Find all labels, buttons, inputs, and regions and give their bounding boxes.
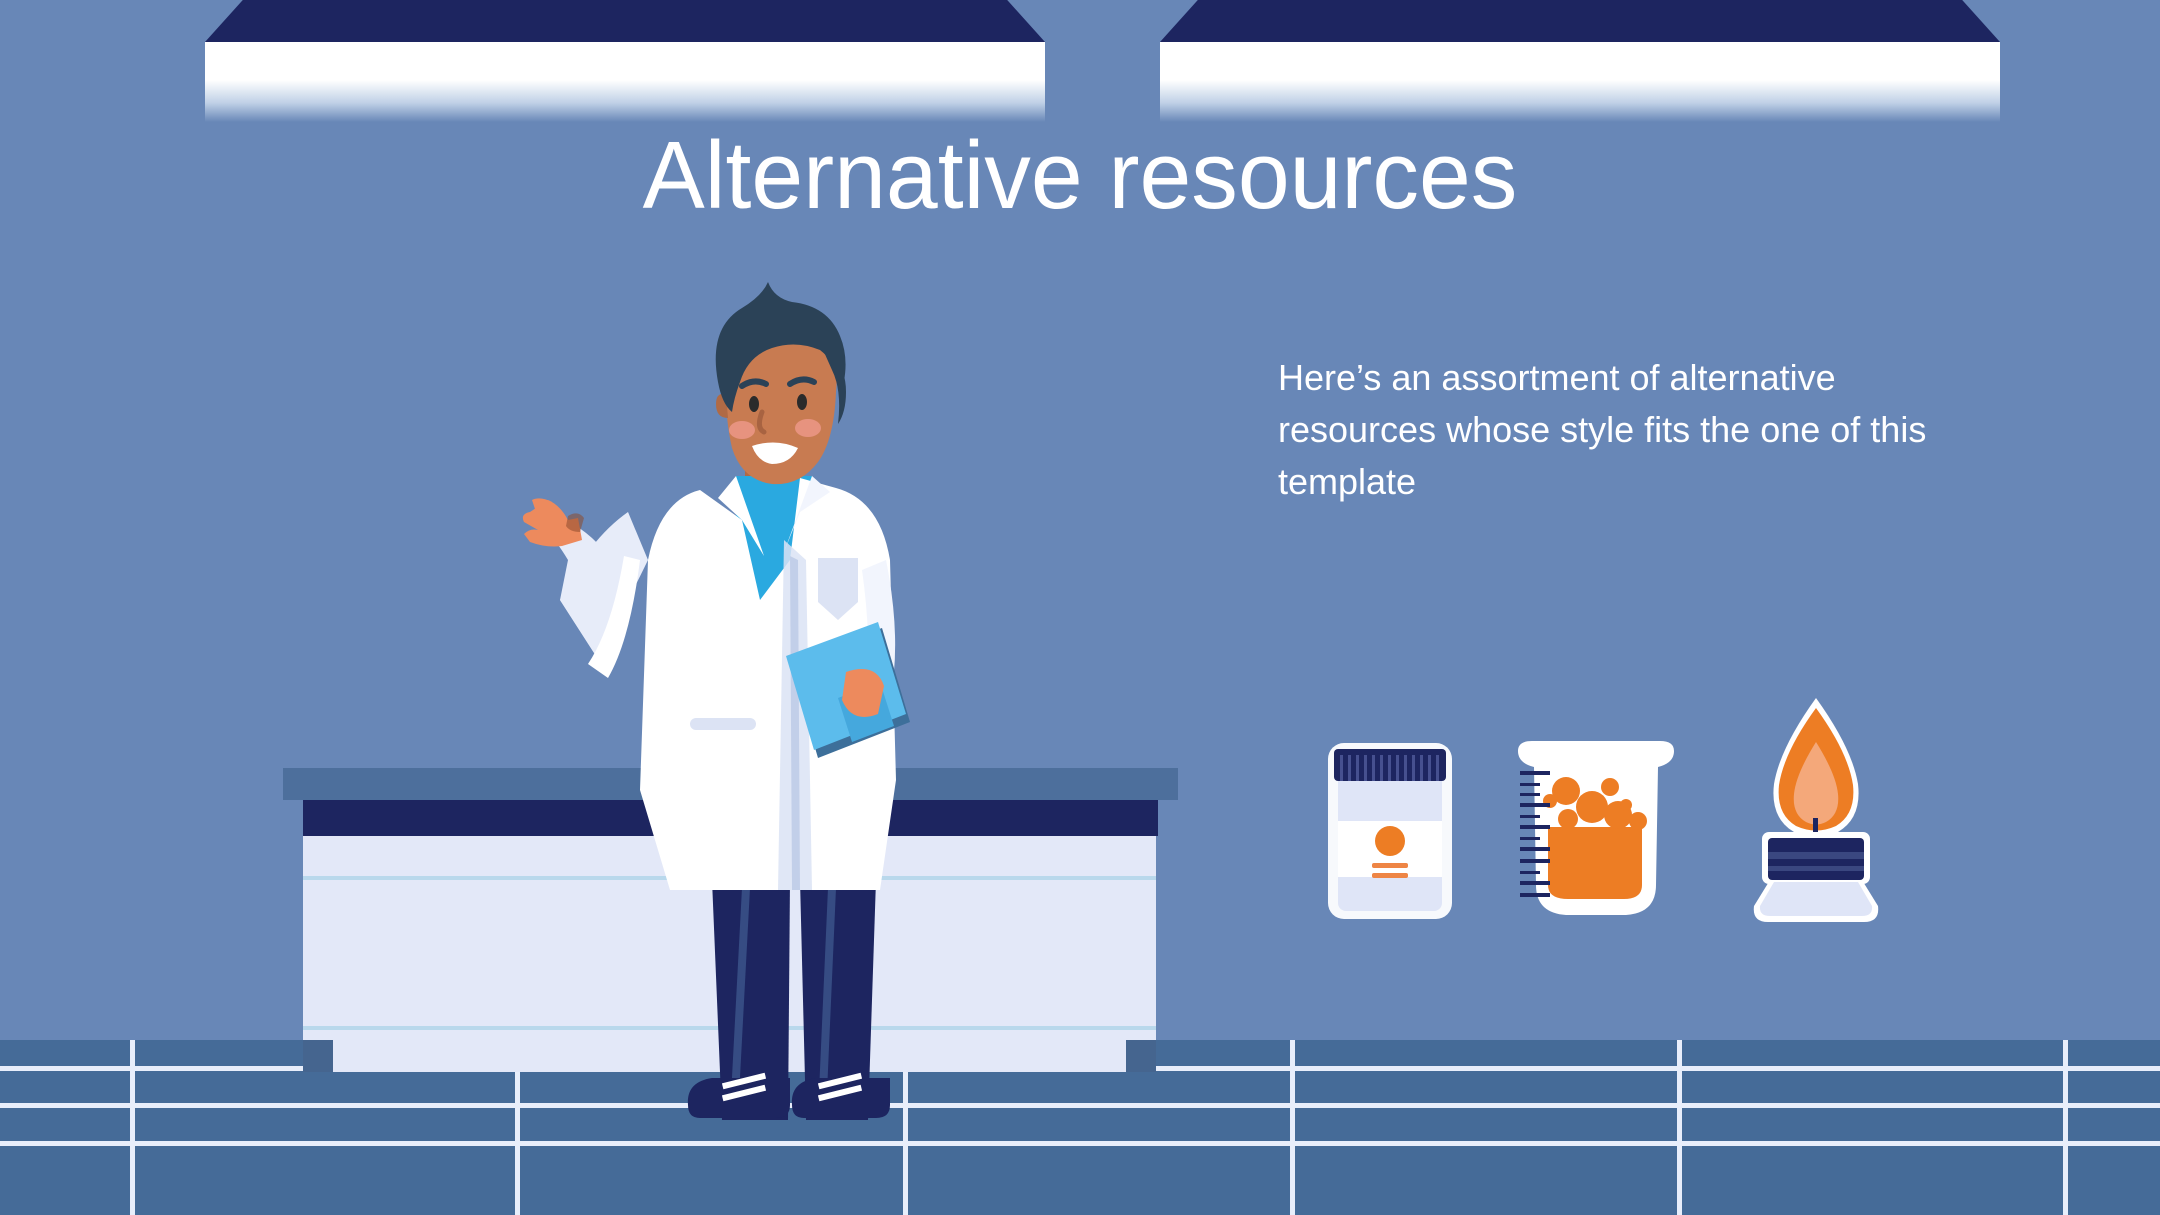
burner-collar-stripe-1 [1768,852,1864,859]
coat-side-pocket [690,718,756,730]
pill-bottle-label-dot [1375,826,1405,856]
shoe-right [792,1078,890,1118]
cheek-right [795,419,821,437]
burner-collar-stripe-2 [1768,866,1864,871]
cheek-left [729,421,755,439]
pill-bottle-label-line-1 [1372,863,1408,868]
beaker-liquid [1548,827,1642,899]
pill-bottle-label-line-2 [1372,873,1408,878]
pill-bottle-icon[interactable] [1320,735,1460,925]
waving-hand [523,498,584,546]
beaker-icon[interactable] [1506,735,1686,930]
scientist-character [0,0,2160,1215]
alcohol-burner-icon[interactable] [1726,690,1906,930]
eye-left [749,396,759,412]
hand-right-fingers [842,669,884,717]
eye-right [797,394,807,410]
burner-base [1760,882,1872,916]
slide-canvas: Alternative resources Here’s an assortme… [0,0,2160,1215]
